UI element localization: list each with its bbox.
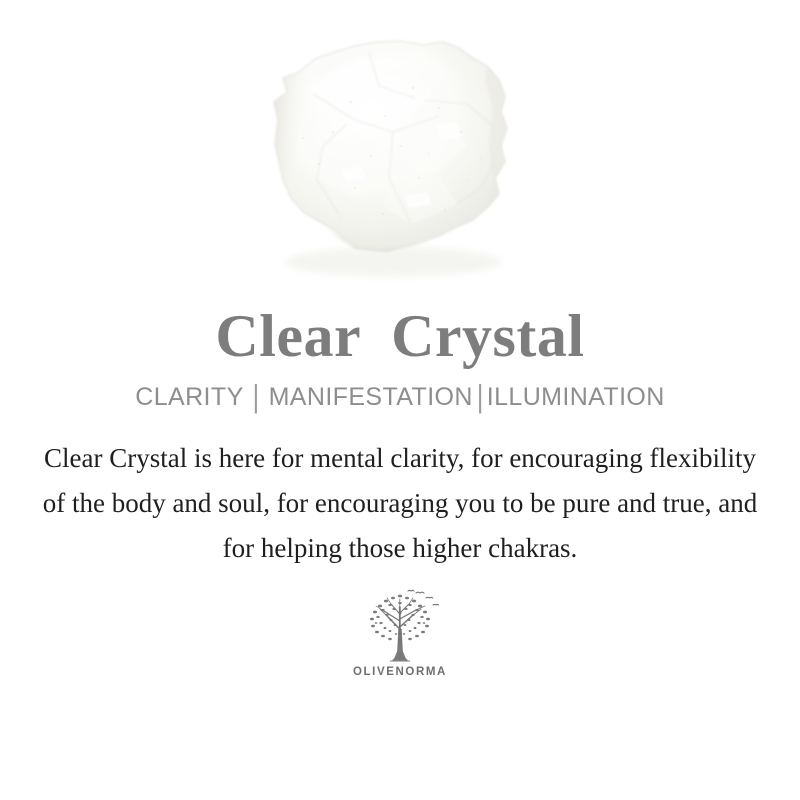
- brand-name: OLIVENORMA: [353, 666, 447, 678]
- keyword-separator-1: |: [244, 379, 269, 415]
- keyword-separator-2: |: [473, 379, 487, 415]
- keyword-illumination: ILLUMINATION: [487, 383, 665, 412]
- keyword-clarity: CLARITY: [135, 383, 243, 412]
- keyword-manifestation: MANIFESTATION: [269, 383, 473, 412]
- product-keywords: CLARITY | MANIFESTATION | ILLUMINATION: [135, 372, 664, 422]
- product-info-card: Clear Crystal CLARITY | MANIFESTATION | …: [0, 0, 800, 800]
- tree-logo-icon: [354, 589, 446, 665]
- brand-logo: OLIVENORMA: [353, 589, 447, 678]
- product-description: Clear Crystal is here for mental clarity…: [40, 422, 760, 571]
- product-title: Clear Crystal: [215, 300, 584, 372]
- crystal-image: [243, 28, 535, 283]
- clear-quartz-crystal-illustration: [243, 28, 535, 283]
- product-image-area: [0, 0, 800, 300]
